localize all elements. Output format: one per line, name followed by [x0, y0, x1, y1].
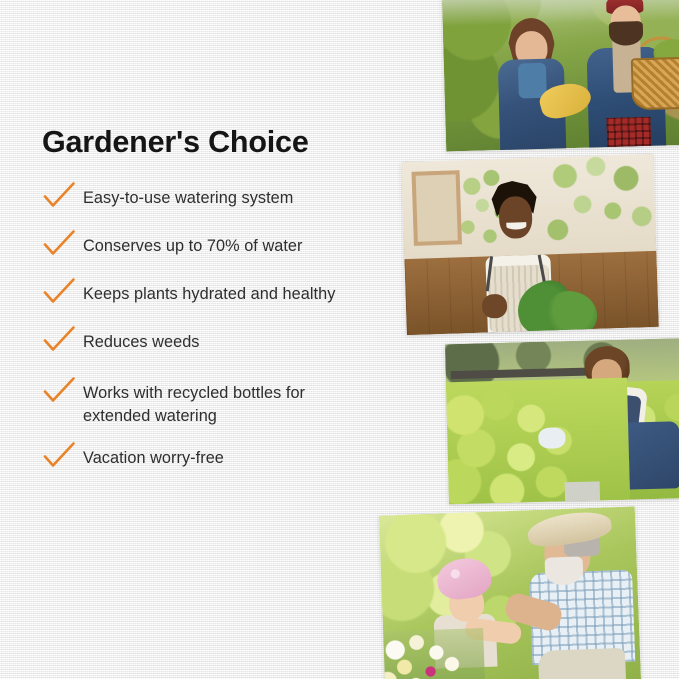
feature-label: Conserves up to 70% of water [83, 234, 303, 258]
check-icon [42, 276, 76, 306]
page-title: Gardener's Choice [42, 126, 412, 160]
photo-woman-tending-garden [445, 338, 679, 505]
check-icon [42, 440, 76, 470]
photo-couple-with-harvest-basket [442, 0, 679, 152]
check-icon [42, 324, 76, 354]
photo-grandfather-and-child-with-flowers [379, 506, 641, 679]
list-item: Reduces weeds [42, 330, 412, 360]
check-icon [42, 180, 76, 210]
photo-man-holding-potted-plant [401, 154, 659, 335]
feature-label: Works with recycled bottles for extended… [83, 381, 305, 428]
ad-banner: Gardener's Choice Easy-to-use watering s… [0, 0, 679, 679]
list-item: Works with recycled bottles for extended… [42, 381, 412, 428]
feature-label: Vacation worry-free [83, 446, 224, 470]
feature-label: Easy-to-use watering system [83, 186, 293, 210]
feature-label: Keeps plants hydrated and healthy [83, 282, 335, 306]
list-item: Keeps plants hydrated and healthy [42, 282, 412, 312]
feature-label: Reduces weeds [83, 330, 200, 354]
feature-list: Easy-to-use watering system Conserves up… [42, 186, 412, 476]
list-item: Conserves up to 70% of water [42, 234, 412, 264]
check-icon [42, 228, 76, 258]
promo-text-panel: Gardener's Choice Easy-to-use watering s… [42, 126, 412, 476]
check-icon [42, 375, 76, 405]
list-item: Easy-to-use watering system [42, 186, 412, 216]
list-item: Vacation worry-free [42, 446, 412, 476]
